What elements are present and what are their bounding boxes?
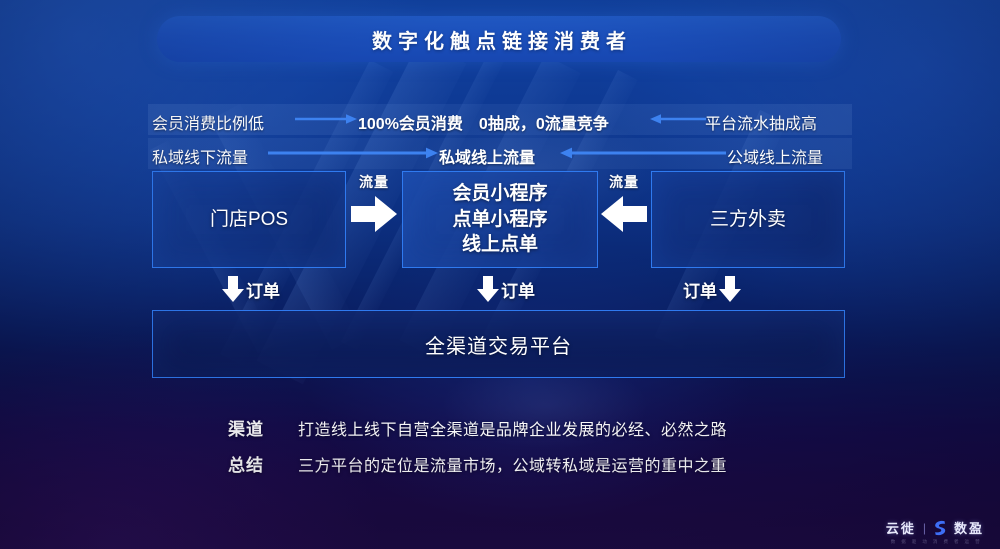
order-flow-miniprogram-label: 订单 bbox=[501, 277, 535, 302]
row2-right-label: 公域线上流量 bbox=[727, 144, 823, 168]
arrow-left-block-icon bbox=[601, 194, 647, 234]
logo-brand-text: 云徙 bbox=[886, 518, 916, 537]
flow-left-group: 流量 bbox=[346, 172, 402, 234]
row1-middle-label: 100%会员消费 0抽成，0流量竞争 bbox=[358, 110, 609, 134]
row2-middle-label: 私域线上流量 bbox=[439, 144, 535, 168]
summary-row: 总结 三方平台的定位是流量市场，公域转私域是运营的重中之重 bbox=[228, 451, 828, 476]
row2-left-label: 私域线下流量 bbox=[152, 144, 248, 168]
logo-divider: | bbox=[923, 521, 926, 535]
order-flow-third-party-label: 订单 bbox=[683, 277, 717, 302]
row1-left-label: 会员消费比例低 bbox=[152, 110, 264, 134]
channel-box-third-party-delivery[interactable]: 三方外卖 bbox=[651, 171, 845, 268]
flow-left-label: 流量 bbox=[346, 172, 402, 192]
flow-right-label: 流量 bbox=[596, 172, 652, 192]
platform-label: 全渠道交易平台 bbox=[425, 330, 572, 359]
row1-right-label: 平台流水抽成高 bbox=[705, 110, 817, 134]
summary-key-conclusion: 总结 bbox=[228, 451, 298, 476]
summary-value-channel: 打造线上线下自营全渠道是品牌企业发展的必经、必然之路 bbox=[298, 416, 727, 440]
brand-logo: 云徙 | 数盈 bbox=[886, 518, 984, 537]
order-flow-miniprogram: 订单 bbox=[477, 276, 535, 302]
page-title: 数字化触点链接消费者 bbox=[366, 25, 632, 54]
miniprogram-line-2: 点单小程序 bbox=[452, 209, 547, 230]
miniprogram-line-3: 线上点单 bbox=[462, 234, 538, 255]
arrow-down-block-icon bbox=[477, 276, 499, 302]
arrow-down-block-icon bbox=[222, 276, 244, 302]
channel-box-third-party-label: 三方外卖 bbox=[710, 207, 786, 233]
summary-row: 渠道 打造线上线下自营全渠道是品牌企业发展的必经、必然之路 bbox=[228, 415, 828, 440]
lightning-s-icon bbox=[933, 520, 947, 536]
miniprogram-line-1: 会员小程序 bbox=[452, 183, 547, 204]
channel-box-miniprogram-label: 会员小程序 点单小程序 线上点单 bbox=[452, 181, 547, 258]
order-flow-pos-label: 订单 bbox=[246, 277, 280, 302]
channel-box-miniprogram[interactable]: 会员小程序 点单小程序 线上点单 bbox=[402, 171, 598, 268]
summary-key-channel: 渠道 bbox=[228, 415, 298, 440]
order-flow-third-party: 订单 bbox=[683, 276, 741, 302]
arrow-down-block-icon bbox=[719, 276, 741, 302]
slide-title-bar: 数字化触点链接消费者 bbox=[157, 16, 841, 62]
summary-value-conclusion: 三方平台的定位是流量市场，公域转私域是运营的重中之重 bbox=[298, 452, 727, 476]
arrow-right-block-icon bbox=[351, 194, 397, 234]
flow-right-group: 流量 bbox=[596, 172, 652, 234]
channel-box-pos-label: 门店POS bbox=[210, 207, 288, 233]
platform-box[interactable]: 全渠道交易平台 bbox=[152, 310, 845, 378]
logo-product-text: 数盈 bbox=[954, 518, 984, 537]
summary-section: 渠道 打造线上线下自营全渠道是品牌企业发展的必经、必然之路 总结 三方平台的定位… bbox=[228, 415, 828, 487]
order-flow-pos: 订单 bbox=[222, 276, 280, 302]
slide-canvas: 数字化触点链接消费者 会员消费比例低 100%会员消费 0抽成，0流量竞争 平台… bbox=[0, 0, 1000, 549]
logo-tagline: 数 据 驱 动 消 费 者 运 营 bbox=[891, 539, 982, 545]
channel-box-pos[interactable]: 门店POS bbox=[152, 171, 346, 268]
